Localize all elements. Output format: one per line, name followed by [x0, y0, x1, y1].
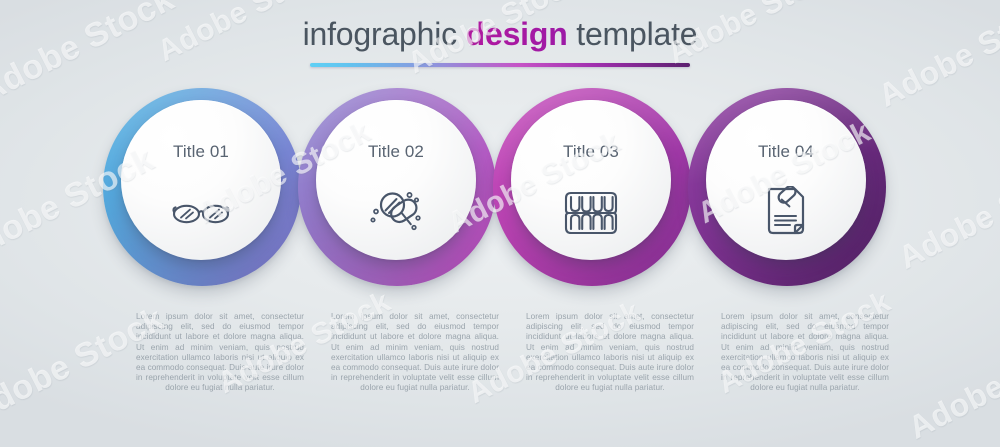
step-4-title: Title 04 [706, 142, 866, 162]
step-2-card[interactable]: Title 02 [316, 100, 476, 260]
step-2[interactable]: Title 02 [298, 88, 496, 310]
step-4-description: Lorem ipsum dolor sit amet, consectetur … [721, 312, 889, 394]
steps-row: Title 01 [0, 88, 1000, 313]
step-1[interactable]: Title 01 [103, 88, 301, 310]
step-4-card[interactable]: Title 04 [706, 100, 866, 260]
page-title: infographic design template [0, 14, 1000, 54]
step-1-description: Lorem ipsum dolor sit amet, consectetur … [136, 312, 304, 394]
step-1-card[interactable]: Title 01 [121, 100, 281, 260]
step-4[interactable]: Title 04 [688, 88, 886, 310]
prescription-icon [706, 186, 866, 240]
step-2-title: Title 02 [316, 142, 476, 162]
step-3-title: Title 03 [511, 142, 671, 162]
title-underline-gradient [310, 63, 690, 67]
step-2-description: Lorem ipsum dolor sit amet, consectetur … [331, 312, 499, 394]
pills-icon [316, 186, 476, 240]
glasses-icon [121, 186, 281, 240]
title-highlight: design [466, 16, 568, 52]
step-3-card[interactable]: Title 03 [511, 100, 671, 260]
infographic-canvas: infographic design template Title 01 [0, 0, 1000, 447]
title-part-one: infographic [303, 16, 466, 52]
step-3-description: Lorem ipsum dolor sit amet, consectetur … [526, 312, 694, 394]
dentures-icon [511, 186, 671, 240]
header: infographic design template [0, 14, 1000, 67]
step-3[interactable]: Title 03 [493, 88, 691, 310]
title-part-two: template [568, 16, 698, 52]
description-columns: Lorem ipsum dolor sit amet, consectetur … [0, 312, 1000, 412]
step-1-title: Title 01 [121, 142, 281, 162]
